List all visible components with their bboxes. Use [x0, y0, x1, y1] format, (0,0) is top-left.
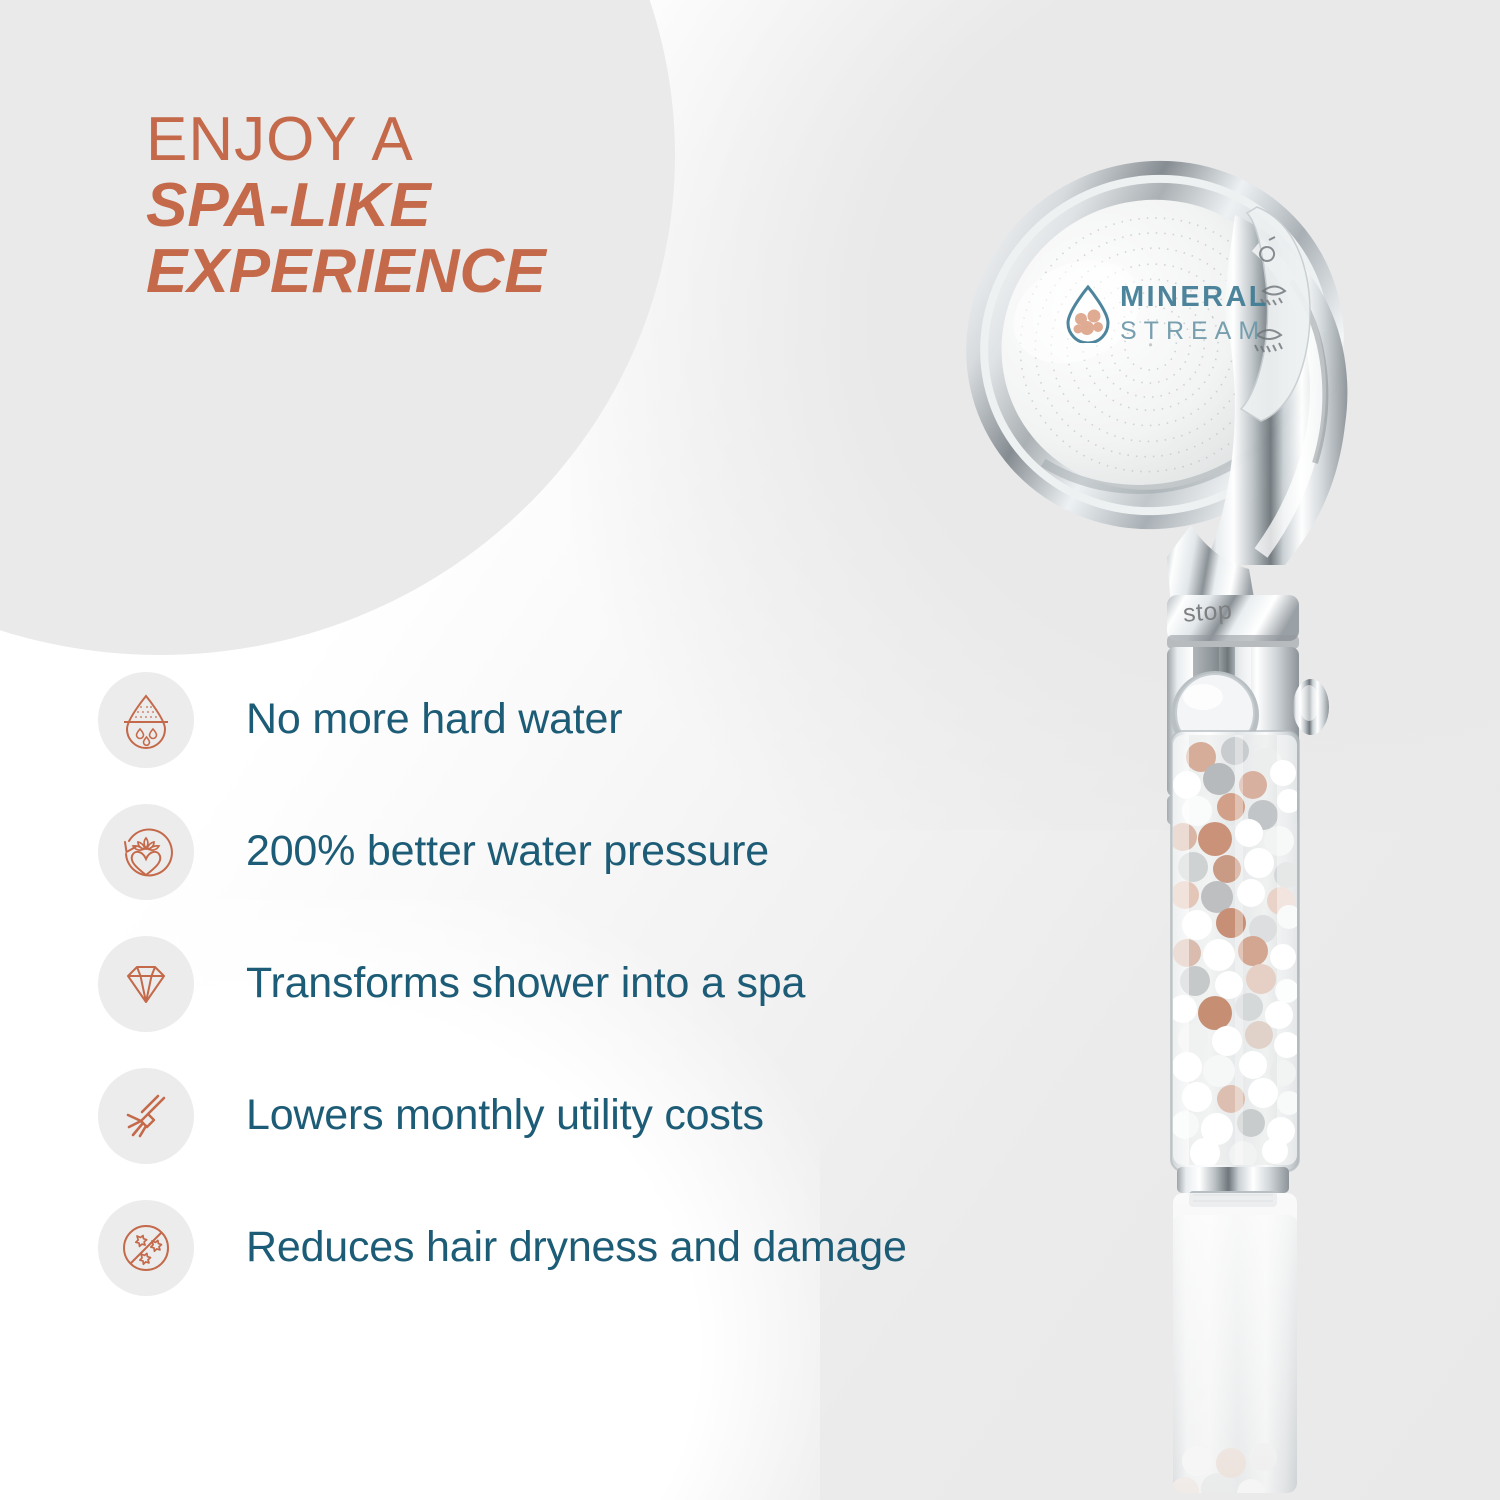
mineral-droplet-icon [1065, 285, 1111, 348]
feature-item-utility-costs: Lowers monthly utility costs [98, 1068, 1088, 1164]
feature-list: No more hard water 200% better [98, 672, 1088, 1296]
feature-label: 200% better water pressure [246, 827, 769, 877]
headline-line-2: SPA-LIKE [146, 176, 766, 236]
feature-label: No more hard water [246, 695, 622, 745]
feature-item-hair-damage: Reduces hair dryness and damage [98, 1200, 1088, 1296]
headline-line-1: ENJOY A [146, 110, 766, 170]
brand-word-secondary: STREAM [1120, 319, 1269, 344]
feature-item-spa: Transforms shower into a spa [98, 936, 1088, 1032]
mineral-bead-fill [1169, 735, 1301, 1169]
feature-label: Lowers monthly utility costs [246, 1091, 764, 1141]
headline-block: ENJOY A SPA-LIKE EXPERIENCE [146, 110, 766, 302]
feature-label: Transforms shower into a spa [246, 959, 805, 1009]
feature-item-no-hard-water: No more hard water [98, 672, 1088, 768]
product-reflection [1169, 1193, 1299, 1495]
brand-word-primary: MINERAL [1120, 283, 1269, 312]
headline-line-3: EXPERIENCE [146, 242, 766, 302]
brand-logo: MINERAL STREAM [1065, 283, 1269, 348]
feature-label: Reduces hair dryness and damage [246, 1223, 907, 1273]
savings-whisk-icon [98, 1068, 194, 1164]
hero-circle-shape [0, 0, 675, 655]
lotus-heart-refresh-icon [98, 804, 194, 900]
stop-button-label: stop [1182, 596, 1233, 628]
feature-item-water-pressure: 200% better water pressure [98, 804, 1088, 900]
filtered-water-droplet-icon [98, 672, 194, 768]
diamond-gem-icon [98, 936, 194, 1032]
stop-button-graphic [1171, 671, 1259, 759]
infographic-canvas: ENJOY A SPA-LIKE EXPERIENCE [0, 0, 1500, 1500]
no-split-ends-icon [98, 1200, 194, 1296]
